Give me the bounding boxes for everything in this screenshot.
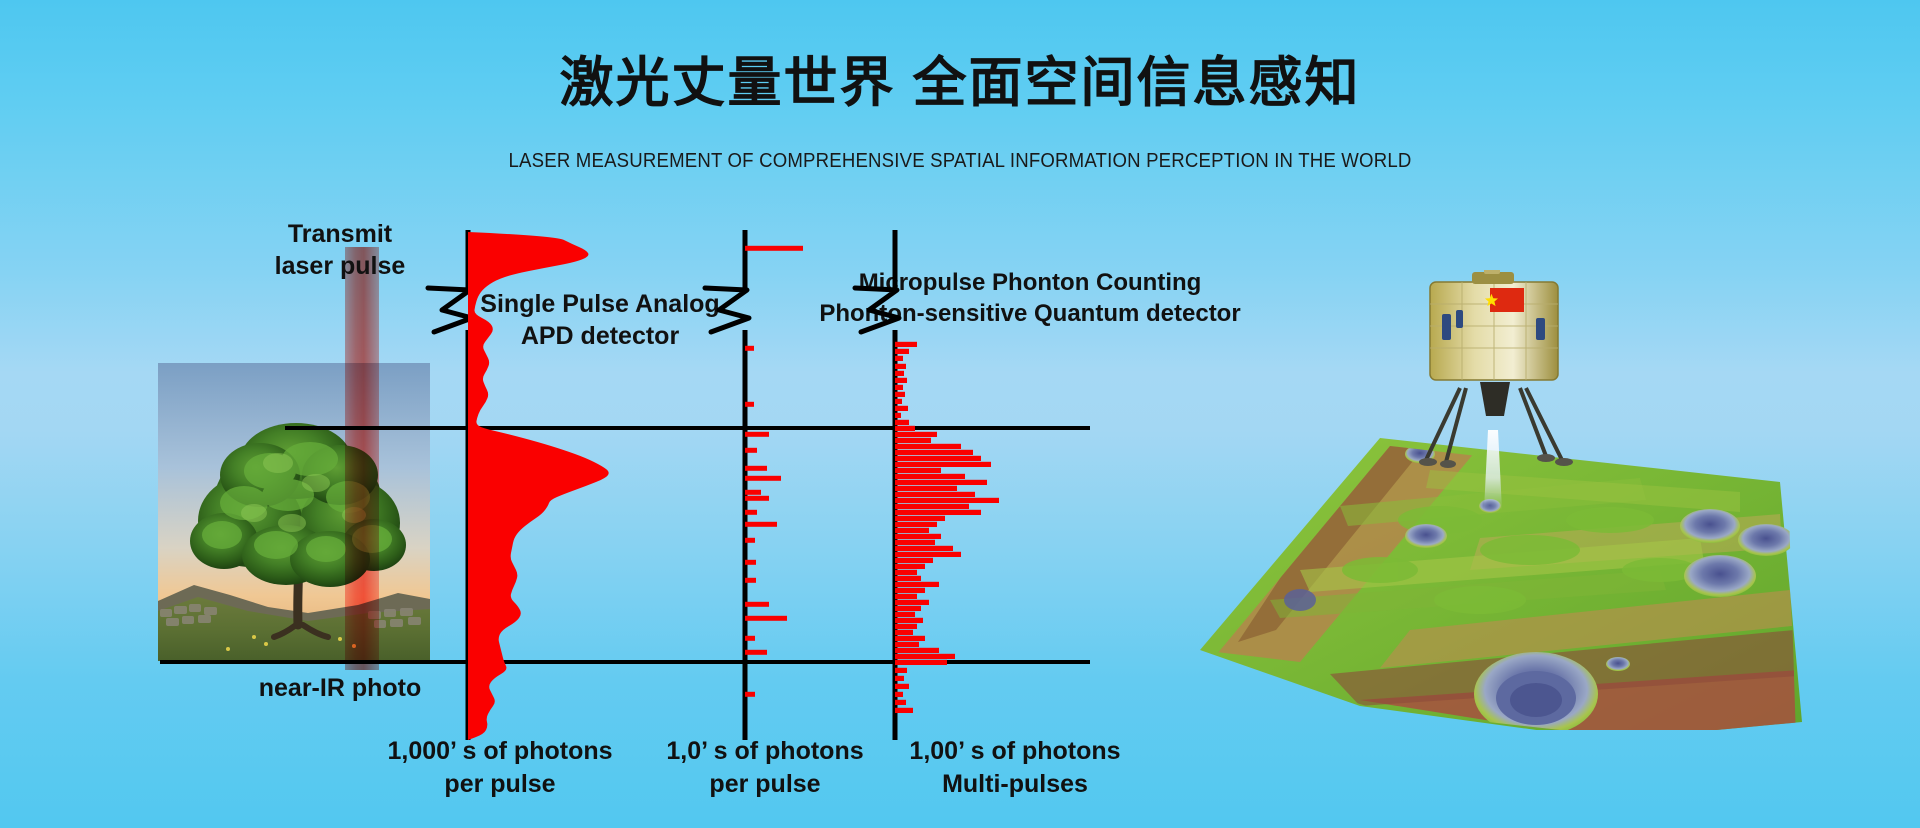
tree-photo-svg (158, 363, 430, 661)
photon-return-bar (895, 668, 907, 673)
photon-return-bar (745, 616, 787, 621)
photon-return-bar (895, 624, 917, 629)
photon-return-bar (895, 371, 904, 376)
near-ir-photo-image (158, 363, 430, 661)
photon-return-bar (895, 594, 917, 599)
photon-return-bar (895, 700, 906, 705)
photon-return-bar (895, 636, 925, 641)
photon-return-bar (895, 546, 953, 551)
photon-return-bar (895, 364, 906, 369)
photon-return-bar (895, 582, 939, 587)
photon-return-bar (895, 558, 933, 563)
photon-return-bar (745, 560, 756, 565)
photon-return-bar (745, 490, 761, 495)
photon-return-bar (895, 642, 919, 647)
photon-return-bar (895, 534, 941, 539)
photon-return-bar (895, 426, 915, 431)
china-flag-icon (1485, 288, 1524, 312)
terrain-mesh (1200, 438, 1802, 730)
photon-return-bar (895, 406, 908, 411)
photon-return-bar (745, 692, 755, 697)
photon-return-bar (895, 648, 939, 653)
label-transmit-laser-pulse: Transmit laser pulse (230, 218, 450, 282)
photon-return-bar (745, 476, 781, 481)
caption-photons-multi-pulses: 1,00’ s of photons Multi-pulses (855, 735, 1175, 800)
photon-return-bar (895, 432, 937, 437)
photon-return-bar (745, 432, 769, 437)
photon-return-bar (895, 492, 975, 497)
photon-return-bar (895, 516, 945, 521)
photon-return-bar (895, 444, 961, 449)
photon-return-bar (895, 684, 909, 689)
photon-return-bar (895, 600, 929, 605)
photon-return-bar (895, 462, 991, 467)
photon-return-bar (895, 692, 903, 697)
photon-return-bar (895, 392, 905, 397)
photon-return-bar (745, 578, 756, 583)
page-title: 激光丈量世界 全面空间信息感知 (0, 52, 1920, 114)
label-near-ir-photo: near-IR photo (200, 672, 480, 704)
photon-return-bar (745, 538, 755, 543)
photon-return-bar (895, 486, 957, 491)
photon-return-bar (895, 570, 917, 575)
photon-return-bar (895, 504, 969, 509)
photon-return-bar (745, 466, 767, 471)
photon-return-bar (895, 618, 923, 623)
photon-return-bar (745, 510, 757, 515)
photon-return-bar (895, 528, 929, 533)
photon-return-bar (895, 612, 915, 617)
photon-return-bar (895, 356, 903, 361)
photon-return-bar (895, 606, 921, 611)
photon-return-bar (895, 480, 987, 485)
photon-return-bar (895, 498, 999, 503)
photon-return-bar (745, 496, 769, 501)
photon-return-bar (895, 468, 941, 473)
photon-return-bar (895, 342, 917, 347)
photon-return-bar (895, 588, 925, 593)
label-single-pulse-analog-apd: Single Pulse Analog APD detector (430, 288, 770, 352)
photon-return-bar (895, 676, 904, 681)
photon-return-bar (895, 552, 961, 557)
page-subtitle: LASER MEASUREMENT OF COMPREHENSIVE SPATI… (67, 150, 1853, 173)
photon-return-bar (895, 630, 913, 635)
photon-return-bar (895, 413, 901, 418)
photon-return-bar (895, 576, 921, 581)
photon-return-bar (895, 399, 902, 404)
photon-return-bar (895, 385, 903, 390)
photon-return-bar (895, 438, 931, 443)
photon-return-bar (895, 450, 973, 455)
photon-return-bar (895, 349, 909, 354)
infographic-canvas: 激光丈量世界 全面空间信息感知 LASER MEASUREMENT OF COM… (0, 0, 1920, 828)
photon-return-bar (745, 402, 754, 407)
photon-return-bar (745, 522, 777, 527)
photon-return-bar (745, 448, 757, 453)
photon-return-bar (895, 540, 935, 545)
photon-return-bar (895, 510, 981, 515)
photon-return-bar (895, 420, 909, 425)
photon-return-bar (745, 246, 803, 251)
engine-plume (1484, 430, 1502, 510)
lunar-lander-elevation-model (1180, 270, 1820, 730)
photon-return-bar (895, 708, 913, 713)
photon-return-bar (745, 636, 755, 641)
photon-return-bar (745, 650, 767, 655)
photon-return-bar (895, 474, 965, 479)
photon-return-bar (895, 660, 947, 665)
photon-return-bar (895, 378, 907, 383)
photon-return-bar (745, 602, 769, 607)
photon-return-bar (895, 456, 981, 461)
lunar-scene-svg (1180, 270, 1820, 730)
photon-return-bar (895, 564, 925, 569)
photon-return-bar (895, 522, 937, 527)
photon-return-bar (895, 654, 955, 659)
